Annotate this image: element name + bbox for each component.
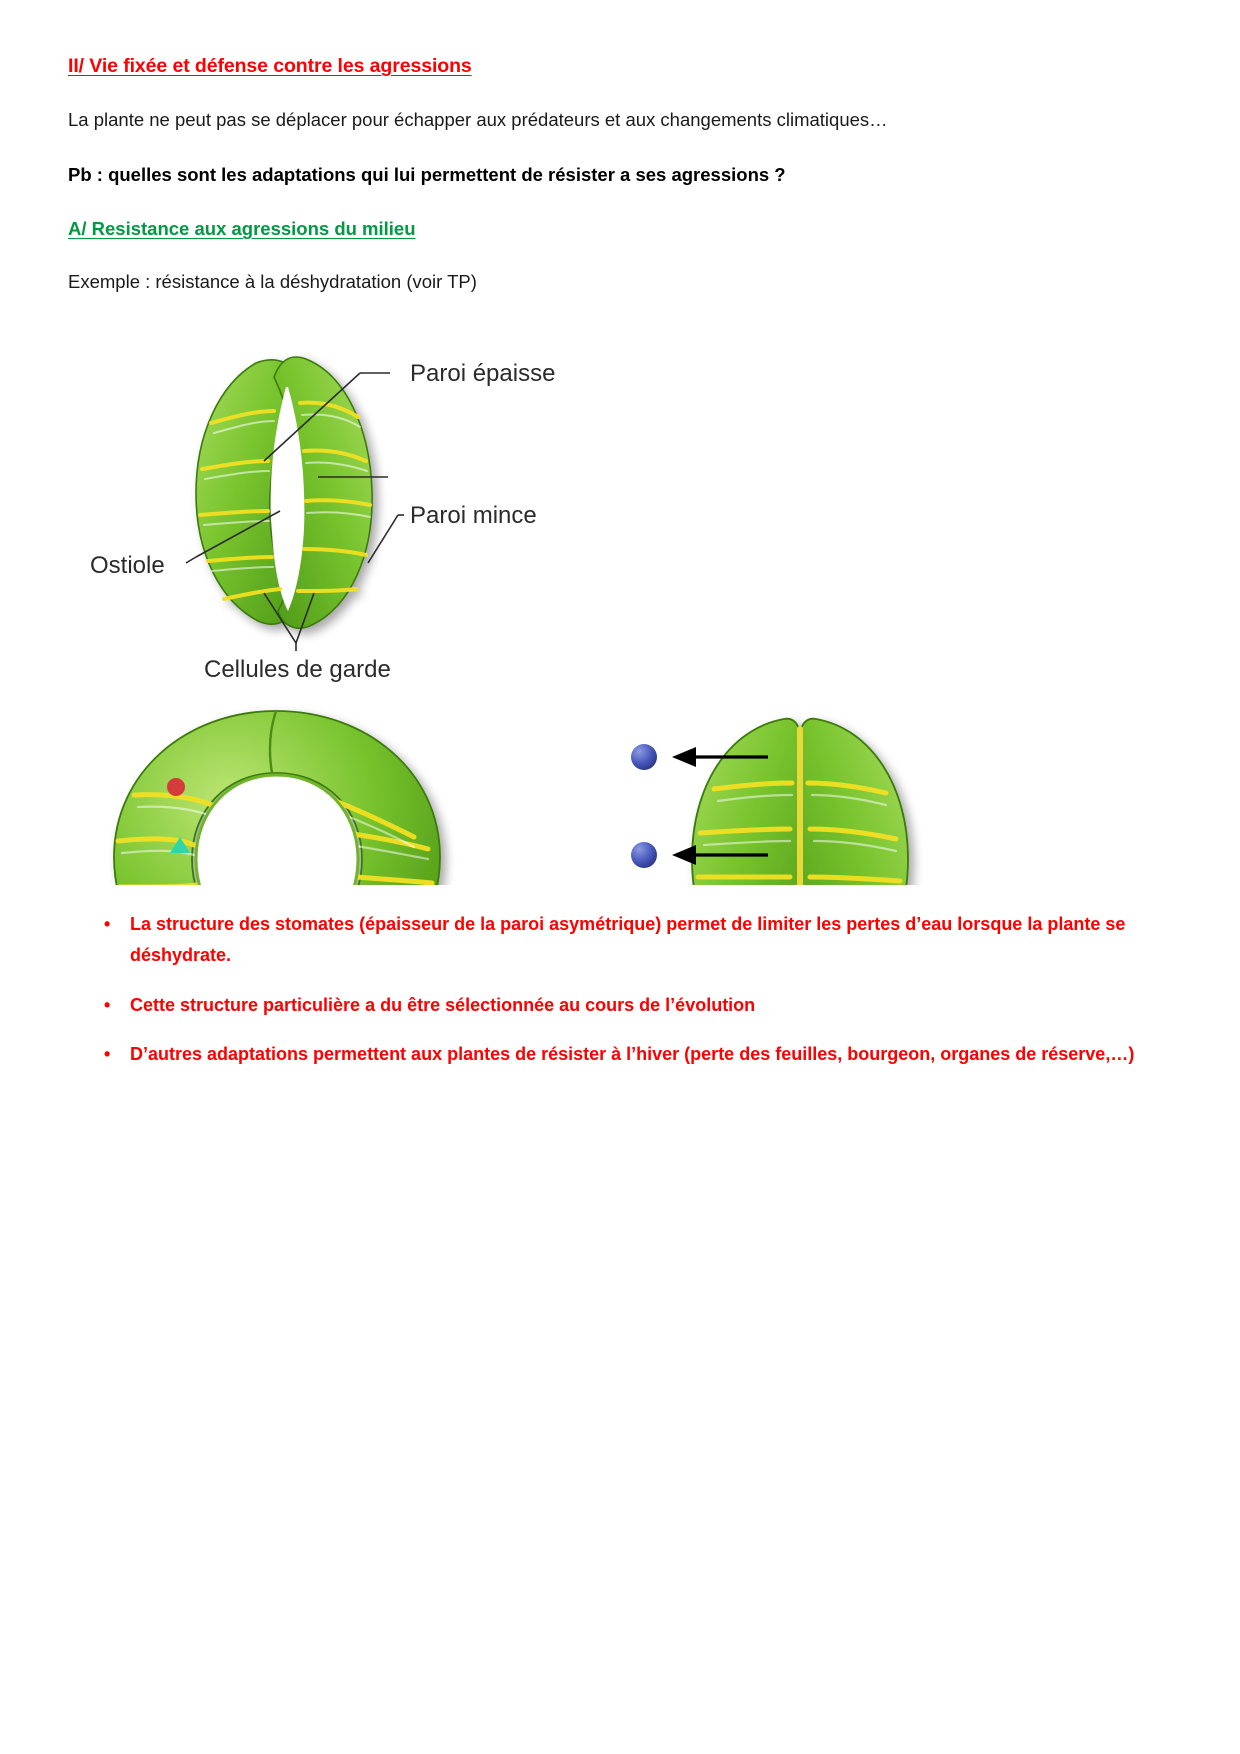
list-item: • La structure des stomates (épaisseur d… [68,909,1135,972]
arrow-head-2 [672,845,696,865]
label-paroi-mince: Paroi mince [410,502,537,529]
stomata-diagram-figure: Paroi épaisse Paroi mince Ostiole Cellul… [68,325,1133,885]
dehydrated-guard-cell-right [800,719,908,885]
bullet-marker-icon: • [104,1039,110,1071]
bullet-marker-icon: • [104,909,110,941]
problem-statement: Pb : quelles sont les adaptations qui lu… [68,163,1135,188]
example-line: Exemple : résistance à la déshydratation… [68,270,1135,295]
dehydrated-stoma-cell [692,719,908,885]
dehydrated-guard-cell-left [692,719,800,885]
red-dot-marker [167,778,185,796]
leader-paroi-mince [368,515,398,563]
label-paroi-epaisse: Paroi épaisse [410,360,555,387]
water-molecule-1 [631,744,657,770]
intro-paragraph: La plante ne peut pas se déplacer pour é… [68,108,1135,133]
list-item: • D’autres adaptations permettent aux pl… [68,1039,1135,1071]
list-item: • Cette structure particulière a du être… [68,990,1135,1022]
list-item-text: La structure des stomates (épaisseur de … [130,914,1125,966]
list-item-text: Cette structure particulière a du être s… [130,995,755,1015]
label-ostiole: Ostiole [90,552,165,579]
label-cellules-de-garde: Cellules de garde [204,656,391,683]
conclusion-bullet-list: • La structure des stomates (épaisseur d… [68,909,1135,1071]
bullet-marker-icon: • [104,990,110,1022]
leader-ostiole-tail [186,557,196,563]
list-item-text: D’autres adaptations permettent aux plan… [130,1044,1134,1064]
subsection-title: A/ Resistance aux agressions du milieu [68,218,1135,240]
document-page: II/ Vie fixée et défense contre les agre… [0,0,1240,1754]
stomata-illustration: Paroi épaisse Paroi mince Ostiole Cellul… [68,325,1133,885]
arrow-head-1 [672,747,696,767]
page-title: II/ Vie fixée et défense contre les agre… [68,55,1135,78]
hydrated-stoma-cell [114,711,440,885]
water-molecule-2 [631,842,657,868]
top-stoma-cell [196,357,372,628]
